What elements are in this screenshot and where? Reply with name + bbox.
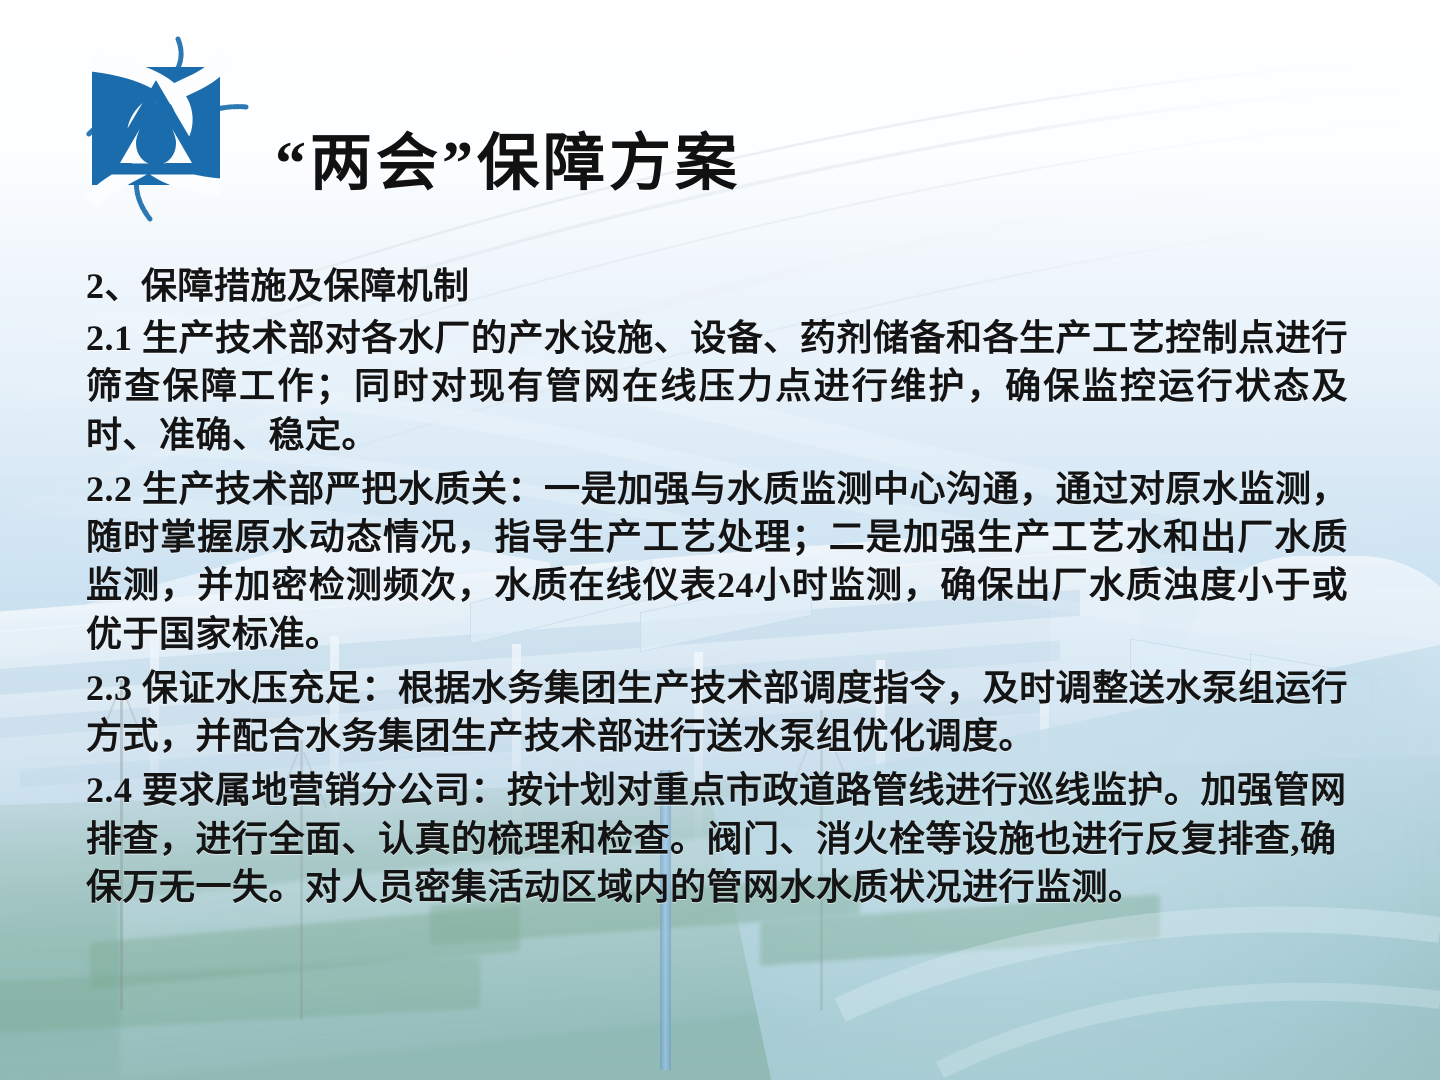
presentation-slide: “两会”保障方案 2、保障措施及保障机制 2.1 生产技术部对各水厂的产水设施、…	[0, 0, 1440, 1080]
slide-body: 2、保障措施及保障机制 2.1 生产技术部对各水厂的产水设施、设备、药剂储备和各…	[86, 262, 1348, 917]
water-group-logo	[70, 35, 260, 225]
section-heading: 2、保障措施及保障机制	[86, 262, 1348, 310]
paragraph-2-1: 2.1 生产技术部对各水厂的产水设施、设备、药剂储备和各生产工艺控制点进行筛查保…	[86, 314, 1348, 459]
paragraph-2-4: 2.4 要求属地营销分公司：按计划对重点市政道路管线进行巡线监护。加强管网排查，…	[86, 766, 1348, 911]
page-title: “两会”保障方案	[275, 112, 741, 202]
paragraph-2-2: 2.2 生产技术部严把水质关：一是加强与水质监测中心沟通，通过对原水监测，随时掌…	[86, 465, 1348, 658]
paragraph-2-3: 2.3 保证水压充足：根据水务集团生产技术部调度指令，及时调整送水泵组运行方式，…	[86, 664, 1348, 760]
